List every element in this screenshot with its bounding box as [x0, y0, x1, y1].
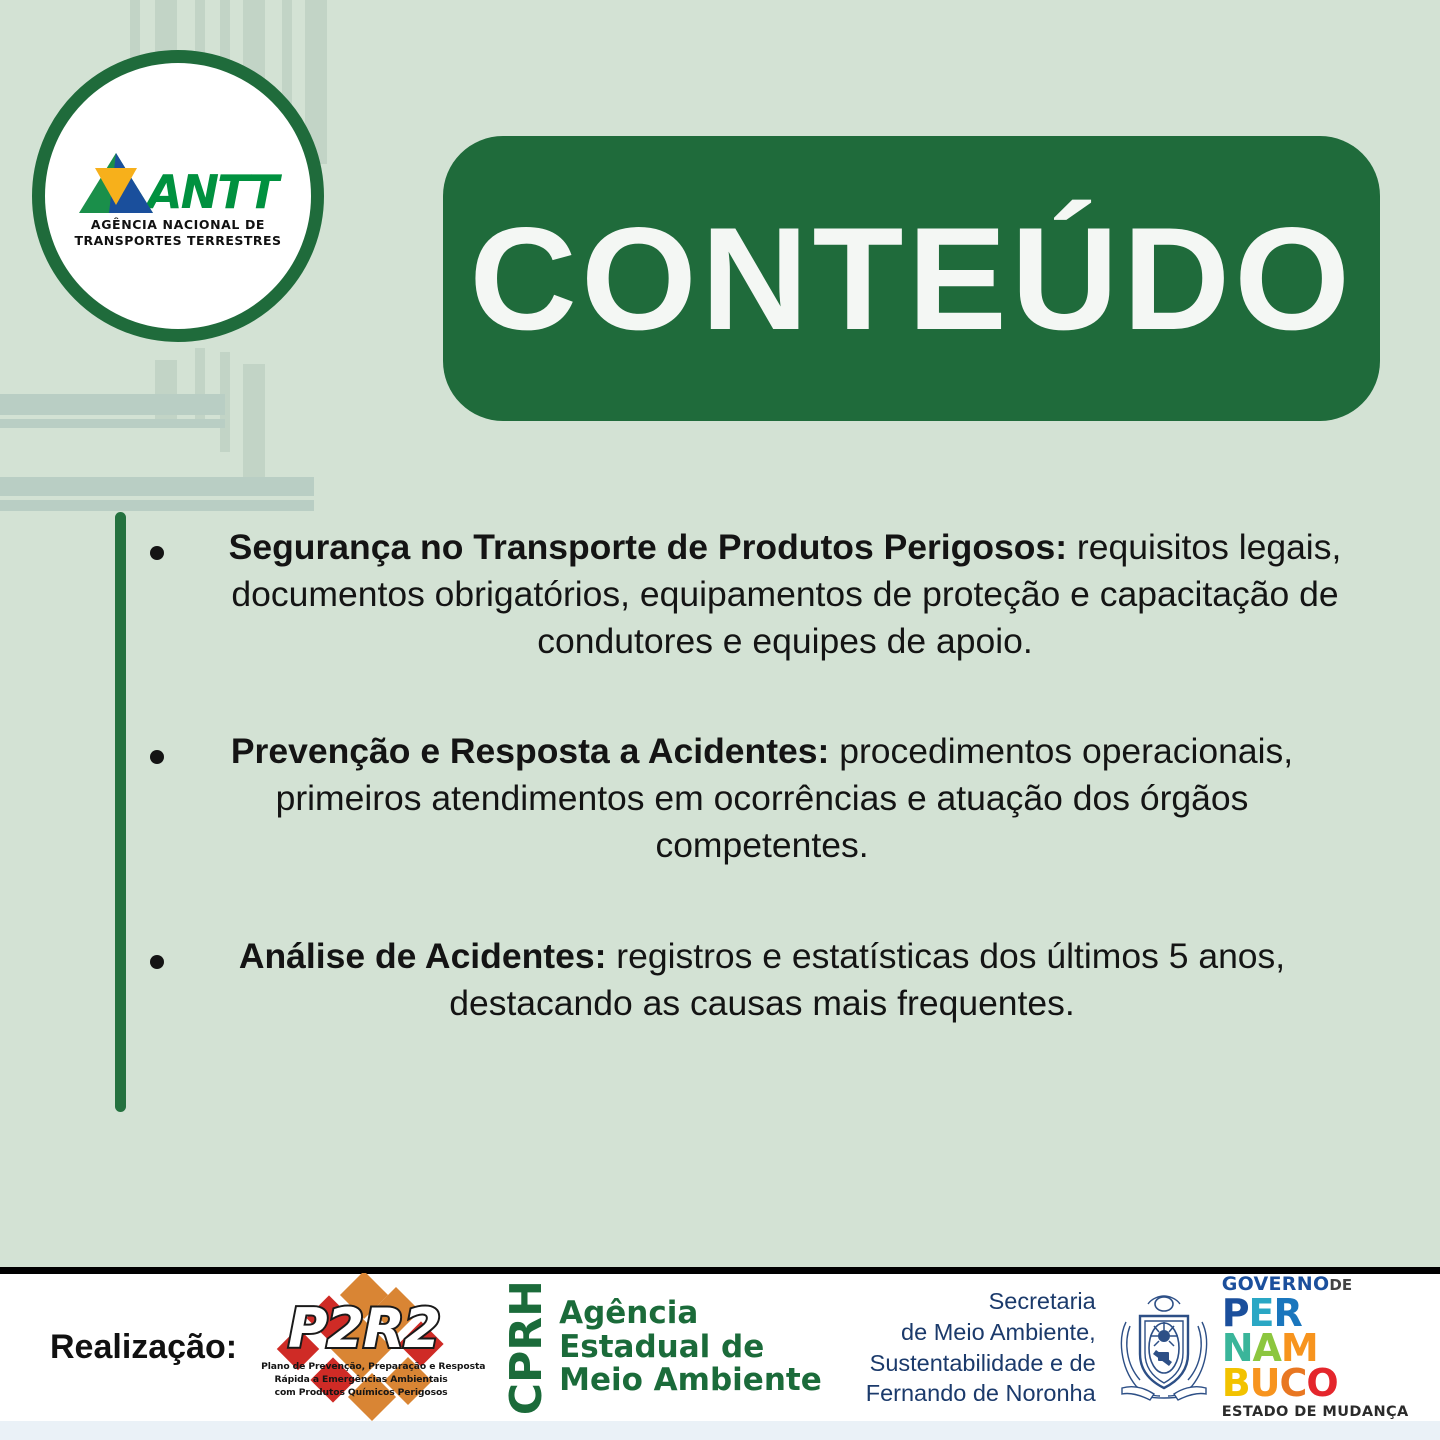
- cprh-line2: Estadual de: [559, 1331, 822, 1364]
- decor-hstripe-1: [0, 394, 225, 415]
- list-item-lead: Análise de Acidentes:: [239, 936, 607, 976]
- cprh-line1: Agência: [559, 1297, 822, 1330]
- cprh-line3: Meio Ambiente: [559, 1364, 822, 1397]
- content-accent-bar: [115, 512, 126, 1112]
- page-title: CONTEÚDO: [469, 206, 1354, 352]
- list-item: Segurança no Transporte de Produtos Peri…: [150, 524, 1390, 666]
- antt-subtitle-line2: TRANSPORTES TERRESTRES: [74, 233, 281, 248]
- footer-bar: Realização: P2R2 Plano de Prevenção, Pre…: [0, 1274, 1440, 1421]
- bullet-dot-icon: [150, 750, 164, 764]
- governo-word-buco: BUCO: [1222, 1366, 1409, 1401]
- content-list: Segurança no Transporte de Produtos Peri…: [150, 524, 1390, 1082]
- list-item-text: Prevenção e Resposta a Acidentes: proced…: [164, 728, 1390, 870]
- decor-hstripe-4: [0, 500, 314, 511]
- list-item-lead: Prevenção e Resposta a Acidentes:: [231, 731, 830, 771]
- pernambuco-coat-of-arms-icon: [1114, 1292, 1214, 1404]
- antt-triangle-mark-icon: [79, 153, 153, 213]
- governo-pernambuco-logo: GOVERNODE PER NAM BUCO ESTADO DE MUDANÇA: [1222, 1275, 1409, 1420]
- secretaria-line3: Sustentabilidade e de: [866, 1348, 1096, 1379]
- list-item: Prevenção e Resposta a Acidentes: proced…: [150, 728, 1390, 870]
- decor-vstripe-11: [243, 364, 265, 488]
- antt-logo: ANTT AGÊNCIA NACIONAL DE TRANSPORTES TER…: [74, 153, 281, 248]
- cprh-acronym: CPRH: [505, 1280, 549, 1415]
- antt-logo-circle: ANTT AGÊNCIA NACIONAL DE TRANSPORTES TER…: [32, 50, 324, 342]
- realizacao-label: Realização:: [50, 1328, 237, 1367]
- footer-bottom-strip: [0, 1421, 1440, 1440]
- p2r2-logo: P2R2 Plano de Prevenção, Preparação e Re…: [261, 1273, 461, 1423]
- secretaria-line1: Secretaria: [866, 1286, 1096, 1317]
- p2r2-sub-line2: Rápida a Emergências Ambientais: [261, 1374, 461, 1385]
- cprh-text-block: Agência Estadual de Meio Ambiente: [559, 1297, 822, 1397]
- antt-subtitle-line1: AGÊNCIA NACIONAL DE: [91, 217, 265, 232]
- decor-hstripe-3: [0, 477, 314, 496]
- p2r2-sub-line3: com Produtos Químicos Perigosos: [261, 1387, 461, 1398]
- antt-logo-row: ANTT: [79, 153, 277, 213]
- bullet-dot-icon: [150, 955, 164, 969]
- bullet-dot-icon: [150, 546, 164, 560]
- p2r2-sub-line1: Plano de Prevenção, Preparação e Respost…: [261, 1361, 461, 1372]
- governo-bottom-line: ESTADO DE MUDANÇA: [1222, 1404, 1409, 1420]
- cprh-logo: CPRH Agência Estadual de Meio Ambiente: [505, 1280, 822, 1415]
- list-item-text: Análise de Acidentes: registros e estatí…: [164, 933, 1390, 1027]
- list-item-text: Segurança no Transporte de Produtos Peri…: [164, 524, 1390, 666]
- list-item: Análise de Acidentes: registros e estatí…: [150, 933, 1390, 1027]
- list-item-lead: Segurança no Transporte de Produtos Peri…: [229, 527, 1067, 567]
- decor-hstripe-2: [0, 419, 225, 428]
- secretaria-line2: de Meio Ambiente,: [866, 1317, 1096, 1348]
- p2r2-wordmark: P2R2: [269, 1297, 459, 1360]
- secretaria-text-block: Secretaria de Meio Ambiente, Sustentabil…: [866, 1286, 1096, 1408]
- antt-wordmark: ANTT: [147, 173, 277, 213]
- poster-canvas: ANTT AGÊNCIA NACIONAL DE TRANSPORTES TER…: [0, 0, 1440, 1440]
- governo-de: DE: [1329, 1276, 1352, 1294]
- page-title-badge: CONTEÚDO: [443, 136, 1380, 421]
- secretaria-line4: Fernando de Noronha: [866, 1378, 1096, 1409]
